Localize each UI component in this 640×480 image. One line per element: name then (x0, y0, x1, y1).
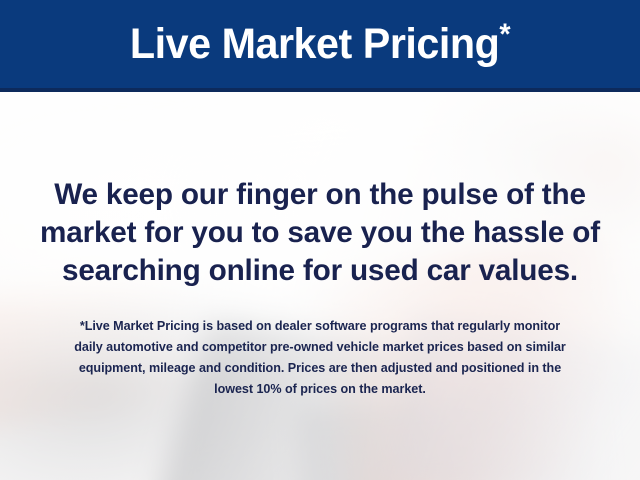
header-banner: Live Market Pricing* (0, 0, 640, 88)
headline-line-3: searching online for used car values. (3, 252, 637, 290)
page-title: Live Market Pricing* (130, 23, 510, 66)
disclaimer-line-4: lowest 10% of prices on the market. (0, 379, 640, 400)
headline-line-2: market for you to save you the hassle of (3, 214, 637, 252)
title-asterisk: * (499, 18, 510, 51)
disclaimer-line-2: daily automotive and competitor pre-owne… (0, 337, 640, 358)
headline-line-1: We keep our finger on the pulse of the (3, 176, 637, 214)
disclaimer-line-1: *Live Market Pricing is based on dealer … (0, 316, 640, 337)
headline-block: We keep our finger on the pulse of the m… (0, 176, 640, 290)
page-title-text: Live Market Pricing (130, 20, 499, 68)
disclaimer-line-3: equipment, mileage and condition. Prices… (0, 358, 640, 379)
banner-bottom-rule (0, 88, 640, 92)
live-market-pricing-graphic: Live Market Pricing* We keep our finger … (0, 0, 640, 480)
disclaimer-block: *Live Market Pricing is based on dealer … (0, 316, 640, 400)
